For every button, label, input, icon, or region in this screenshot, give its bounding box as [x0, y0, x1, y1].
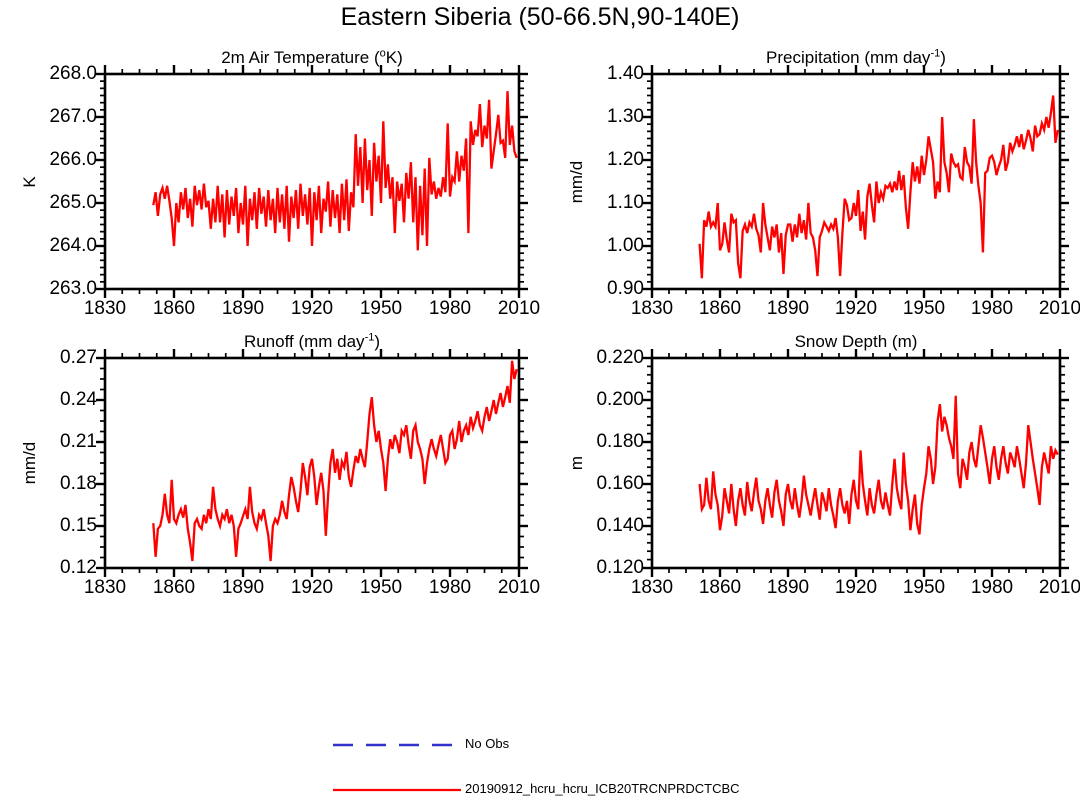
y-tick-label: 0.15: [13, 515, 97, 537]
plot-area-3: [638, 344, 1074, 582]
data-series-line: [153, 361, 516, 561]
legend-swatch-0: [333, 738, 461, 752]
y-tick-label: 267.0: [13, 106, 97, 128]
y-tick-label: 266.0: [13, 149, 97, 171]
legend-swatch-1: [333, 783, 461, 797]
data-series-line: [153, 91, 516, 250]
plot-area-2: [91, 344, 533, 582]
y-tick-label: 264.0: [13, 235, 97, 257]
y-tick-label: 0.90: [560, 278, 644, 300]
legend-label-0: No Obs: [465, 737, 509, 751]
figure-title: Eastern Siberia (50-66.5N,90-140E): [0, 0, 1080, 34]
y-tick-label: 1.40: [560, 63, 644, 85]
y-tick-label: 0.140: [560, 515, 644, 537]
y-tick-label: 1.20: [560, 149, 644, 171]
y-tick-label: 0.200: [560, 389, 644, 411]
y-tick-label: 263.0: [13, 278, 97, 300]
y-tick-label: 0.21: [13, 431, 97, 453]
legend-label-1: 20190912_hcru_hcru_ICB20TRCNPRDCTCBC: [465, 782, 740, 796]
y-tick-label: 1.30: [560, 106, 644, 128]
data-series-line: [700, 396, 1058, 535]
y-tick-label: 0.24: [13, 389, 97, 411]
figure-canvas: Eastern Siberia (50-66.5N,90-140E) 2m Ai…: [0, 0, 1080, 802]
y-tick-label: 0.18: [13, 473, 97, 495]
y-tick-label: 1.00: [560, 235, 644, 257]
y-tick-label: 0.180: [560, 431, 644, 453]
y-tick-label: 0.220: [560, 347, 644, 369]
y-tick-label: 265.0: [13, 192, 97, 214]
y-tick-label: 0.27: [13, 347, 97, 369]
plot-area-1: [638, 60, 1074, 303]
y-tick-label: 1.10: [560, 192, 644, 214]
y-tick-label: 268.0: [13, 63, 97, 85]
y-tick-label: 0.160: [560, 473, 644, 495]
plot-area-0: [91, 60, 533, 303]
data-series-line: [700, 96, 1058, 279]
y-tick-label: 0.12: [13, 557, 97, 579]
y-tick-label: 0.120: [560, 557, 644, 579]
